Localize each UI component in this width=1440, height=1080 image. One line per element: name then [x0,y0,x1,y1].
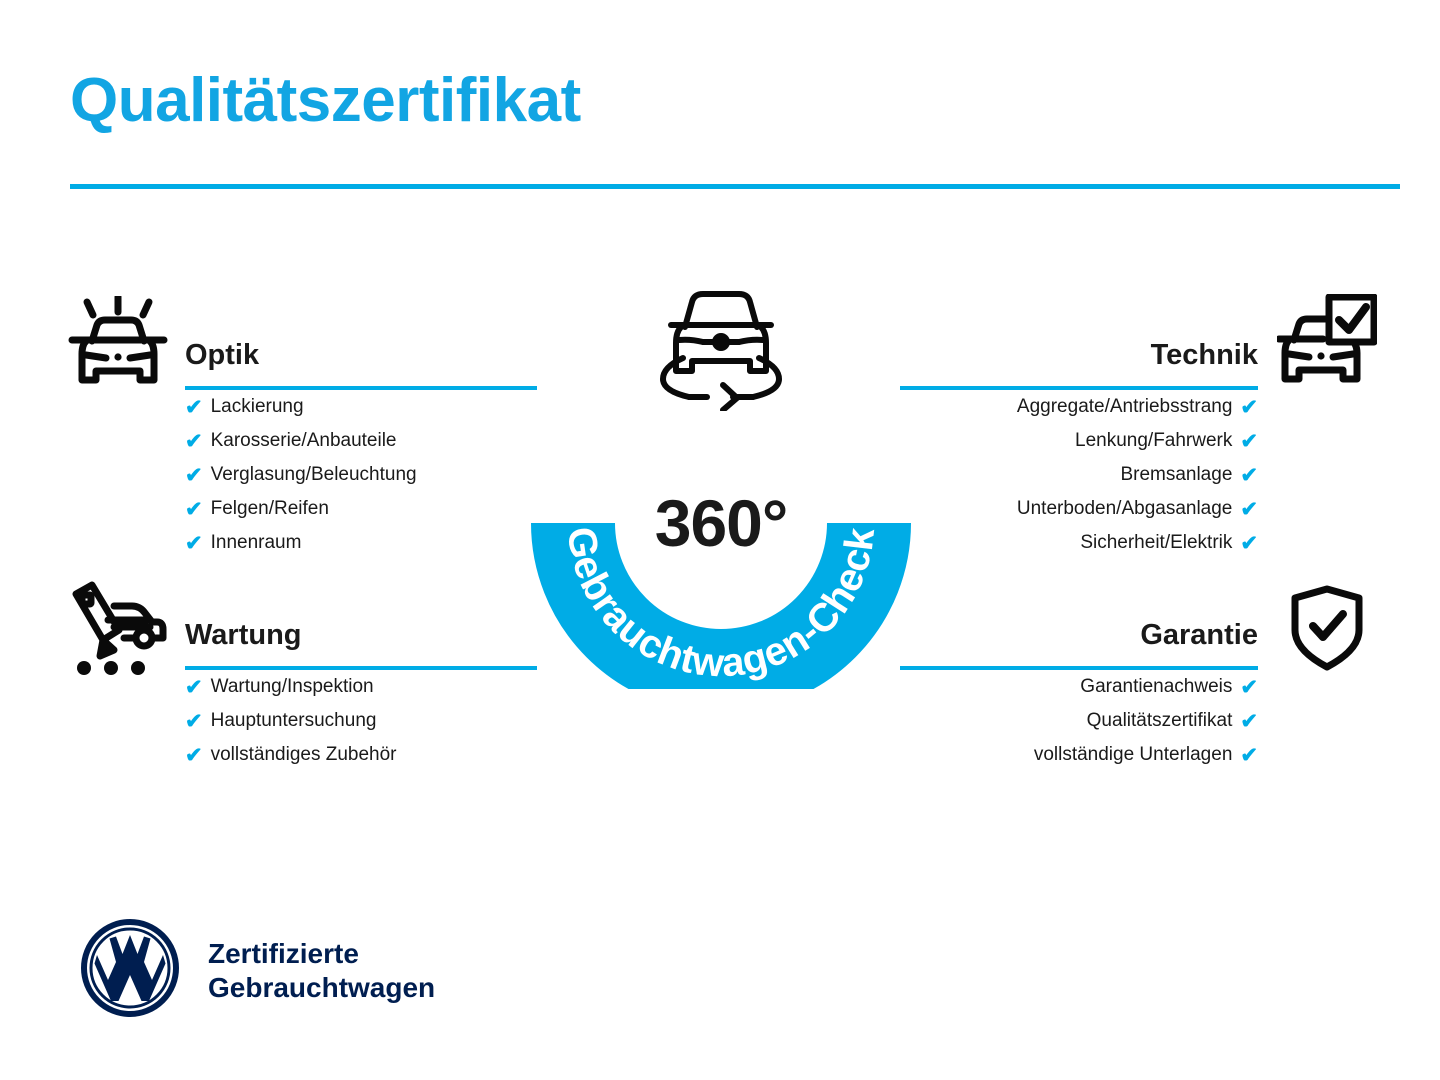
section-garantie: Garantie ✔Garantienachweis✔Qualitätszert… [900,616,1258,772]
footer-logo: Zertifizierte Gebrauchtwagen [78,916,435,1025]
section-optik: Optik ✔Lackierung✔Karosserie/Anbauteile✔… [185,336,537,560]
footer-logo-line2: Gebrauchtwagen [208,971,435,1005]
footer-logo-text: Zertifizierte Gebrauchtwagen [208,937,435,1005]
check-icon: ✔ [1240,711,1258,732]
section-technik-divider [900,386,1258,390]
section-optik-list: ✔Lackierung✔Karosserie/Anbauteile✔Vergla… [185,390,537,560]
section-garantie-title: Garantie [900,616,1258,654]
list-item: ✔Karosserie/Anbauteile [185,424,537,458]
check-icon: ✔ [185,677,203,698]
list-item: ✔Aggregate/Antriebsstrang [900,390,1258,424]
section-wartung-title: Wartung [185,616,537,654]
list-item: ✔Sicherheit/Elektrik [900,526,1258,560]
section-wartung-header: Wartung [185,616,537,670]
check-icon: ✔ [1240,431,1258,452]
list-item: ✔Lackierung [185,390,537,424]
check-icon: ✔ [1240,677,1258,698]
section-technik-list: ✔Aggregate/Antriebsstrang✔Lenkung/Fahrwe… [900,390,1258,560]
section-technik-header: Technik [900,336,1258,390]
list-item-label: Qualitätszertifikat [1087,704,1233,738]
badge-center-label: 360° [527,485,915,561]
section-wartung: Wartung ✔Wartung/Inspektion✔Hauptuntersu… [185,616,537,772]
check-icon: ✔ [185,711,203,732]
section-garantie-list: ✔Garantienachweis✔Qualitätszertifikat✔vo… [900,670,1258,772]
badge-360-check: Gebrauchtwagen-Check 360° [527,285,915,689]
list-item-label: vollständige Unterlagen [1034,738,1233,772]
section-garantie-header: Garantie [900,616,1258,670]
list-item: ✔Lenkung/Fahrwerk [900,424,1258,458]
list-item-label: vollständiges Zubehör [211,738,397,772]
list-item-label: Verglasung/Beleuchtung [211,458,417,492]
list-item: ✔vollständiges Zubehör [185,738,537,772]
list-item: ✔Bremsanlage [900,458,1258,492]
section-garantie-divider [900,666,1258,670]
list-item-label: Aggregate/Antriebsstrang [1017,390,1232,424]
list-item-label: Bremsanlage [1120,458,1232,492]
list-item-label: Sicherheit/Elektrik [1080,526,1232,560]
section-wartung-divider [185,666,537,670]
check-icon: ✔ [185,745,203,766]
check-icon: ✔ [1240,499,1258,520]
list-item: ✔Felgen/Reifen [185,492,537,526]
list-item: ✔Qualitätszertifikat [900,704,1258,738]
list-item: ✔Garantienachweis [900,670,1258,704]
list-item-label: Unterboden/Abgasanlage [1017,492,1233,526]
title-divider [70,184,1400,189]
check-icon: ✔ [1240,745,1258,766]
car-checkbox-icon [1277,294,1377,395]
section-optik-title: Optik [185,336,537,374]
footer-logo-line1: Zertifizierte [208,937,435,971]
list-item: ✔Innenraum [185,526,537,560]
car-shine-icon [66,296,170,397]
list-item-label: Wartung/Inspektion [211,670,374,704]
section-technik-title: Technik [900,336,1258,374]
vw-logo [78,916,182,1025]
section-optik-divider [185,386,537,390]
list-item: ✔Hauptuntersuchung [185,704,537,738]
page-title: Qualitätszertifikat [70,68,581,133]
list-item-label: Karosserie/Anbauteile [211,424,397,458]
check-icon: ✔ [185,397,203,418]
section-technik: Technik ✔Aggregate/Antriebsstrang✔Lenkun… [900,336,1258,560]
list-item: ✔Wartung/Inspektion [185,670,537,704]
list-item-label: Felgen/Reifen [211,492,329,526]
list-item-label: Garantienachweis [1080,670,1232,704]
section-wartung-list: ✔Wartung/Inspektion✔Hauptuntersuchung✔vo… [185,670,537,772]
pen-car-service-icon [62,580,170,683]
section-optik-header: Optik [185,336,537,390]
list-item-label: Innenraum [211,526,302,560]
check-icon: ✔ [185,465,203,486]
list-item-label: Lenkung/Fahrwerk [1075,424,1232,458]
list-item-label: Lackierung [211,390,304,424]
certificate-page: Qualitätszertifikat Optik ✔Lackierung✔Ka… [0,0,1440,1080]
check-icon: ✔ [1240,465,1258,486]
list-item: ✔Verglasung/Beleuchtung [185,458,537,492]
check-icon: ✔ [185,533,203,554]
check-icon: ✔ [1240,397,1258,418]
list-item-label: Hauptuntersuchung [211,704,377,738]
check-icon: ✔ [185,499,203,520]
check-icon: ✔ [1240,533,1258,554]
check-icon: ✔ [185,431,203,452]
list-item: ✔Unterboden/Abgasanlage [900,492,1258,526]
shield-check-icon [1288,584,1366,677]
list-item: ✔vollständige Unterlagen [900,738,1258,772]
